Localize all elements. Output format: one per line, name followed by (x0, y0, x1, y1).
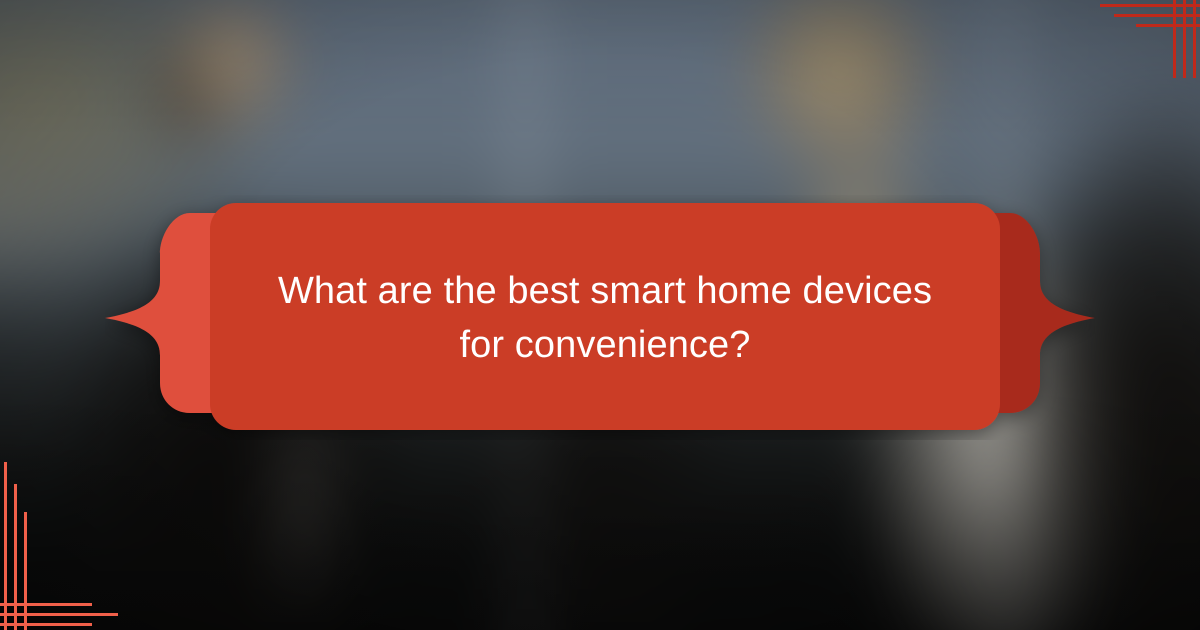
share-card-canvas: What are the best smart home devices for… (0, 0, 1200, 630)
question-card: What are the best smart home devices for… (105, 195, 1095, 440)
question-text: What are the best smart home devices for… (210, 195, 1000, 440)
question-line-2: for convenience? (459, 318, 750, 372)
question-line-1: What are the best smart home devices (278, 264, 932, 318)
